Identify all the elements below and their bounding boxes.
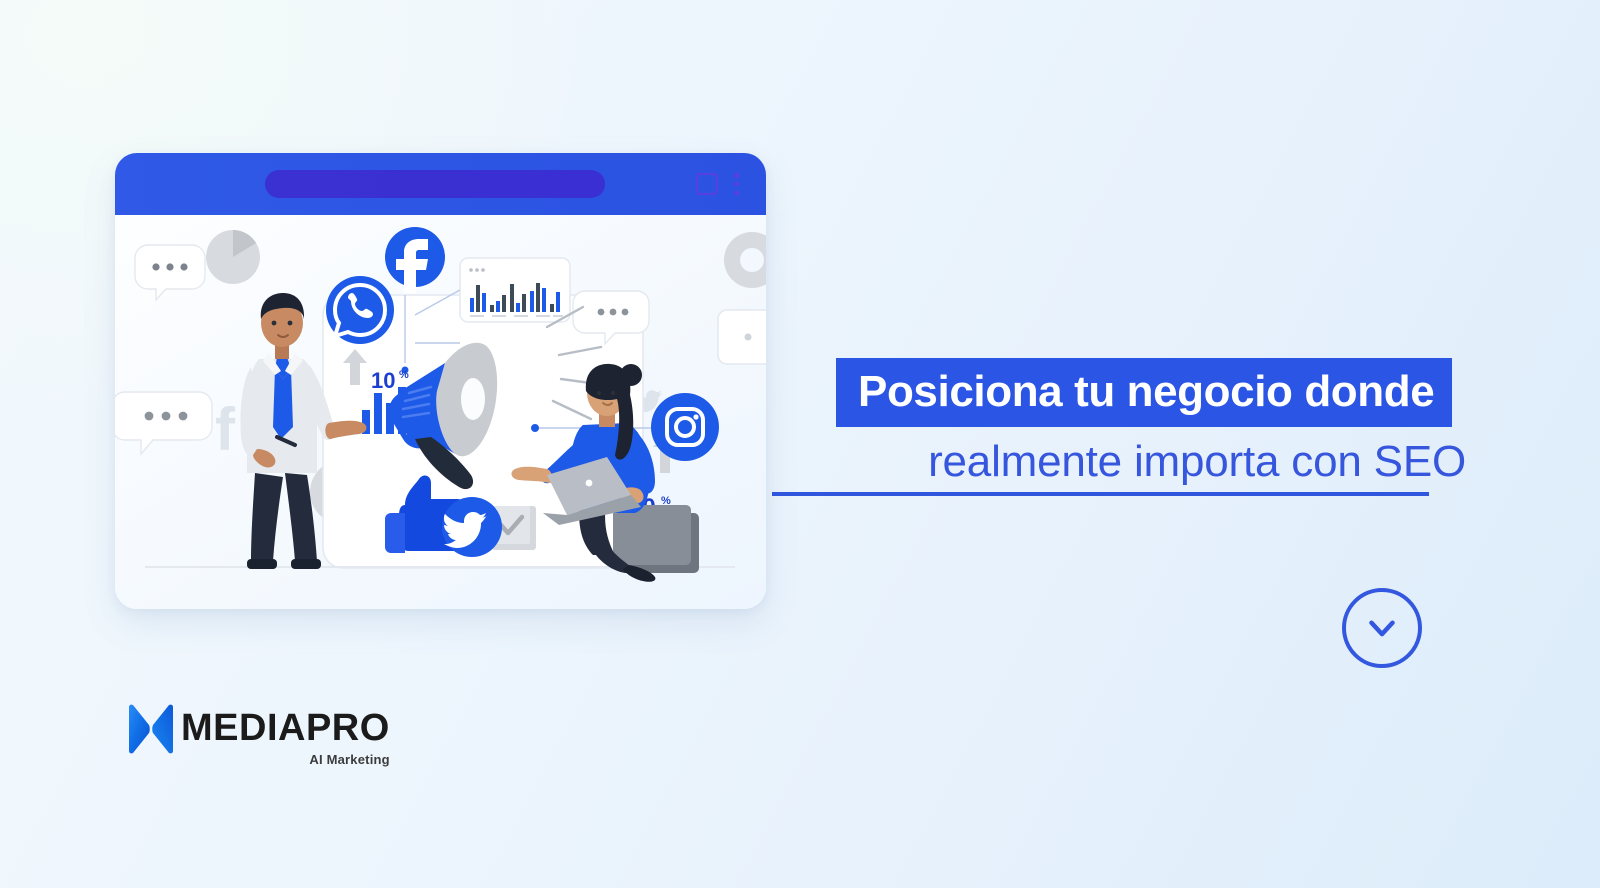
address-bar[interactable]	[265, 170, 605, 198]
logo-lockup[interactable]: MEDIAPRO AI Marketing	[127, 703, 390, 767]
hero-banner: f	[0, 0, 1600, 888]
svg-text:f: f	[215, 396, 236, 463]
svg-text:%: %	[399, 369, 409, 381]
mediapro-logo-mark	[127, 703, 175, 755]
chevron-down-icon	[1361, 607, 1403, 649]
logo-text-wrap: MEDIAPRO AI Marketing	[181, 703, 390, 767]
kebab-menu-icon[interactable]	[734, 173, 739, 195]
headline-block: Posiciona tu negocio donde realmente imp…	[772, 358, 1532, 485]
scroll-down-button[interactable]	[1342, 588, 1422, 668]
marketing-illustration: f	[115, 215, 766, 609]
instagram-icon	[651, 393, 719, 461]
twitter-icon	[442, 497, 502, 557]
logo-tagline: AI Marketing	[309, 752, 389, 767]
headline-primary: Posiciona tu negocio donde	[836, 358, 1452, 427]
browser-mockup-card: f	[115, 153, 766, 609]
headline-secondary: realmente importa con SEO	[772, 439, 1532, 485]
headline-underline-rule	[772, 492, 1429, 496]
whatsapp-icon	[326, 276, 394, 344]
logo-wordmark: MEDIAPRO	[181, 709, 390, 747]
svg-text:10: 10	[371, 368, 395, 393]
browser-chrome-bar	[115, 153, 766, 215]
window-square-icon[interactable]	[696, 173, 718, 195]
